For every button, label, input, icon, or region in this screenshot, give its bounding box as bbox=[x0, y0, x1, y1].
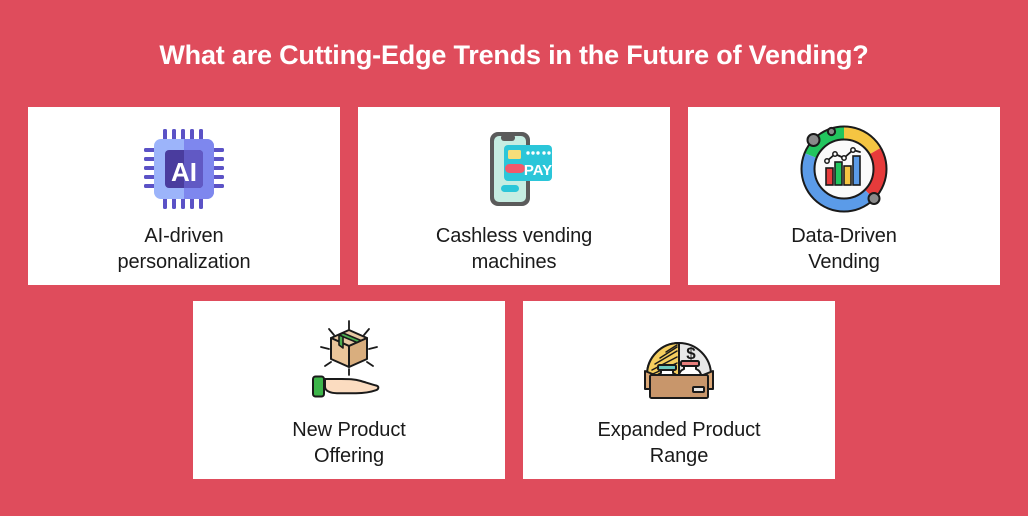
trend-card-label: AI-driven personalization bbox=[44, 223, 324, 275]
trend-card-label-line1: Cashless vending bbox=[436, 225, 592, 247]
trend-card-cashless-vending-machines[interactable]: PAY Cashless vending machines bbox=[358, 107, 670, 285]
trend-card-label-line2: machines bbox=[472, 251, 557, 273]
trend-card-label-line2: Vending bbox=[808, 251, 880, 273]
trend-card-label-line1: New Product bbox=[292, 419, 405, 441]
trend-card-expanded-product-range[interactable]: $ bbox=[523, 301, 835, 479]
donut-analytics-chart-icon bbox=[794, 119, 894, 219]
trend-card-ai-driven-personalization[interactable]: AI AI-driven personalization bbox=[28, 107, 340, 285]
trend-card-label-line1: Data-Driven bbox=[791, 225, 897, 247]
infographic-root: What are Cutting-Edge Trends in the Futu… bbox=[0, 0, 1028, 516]
hand-holding-box-icon bbox=[299, 313, 399, 413]
trend-card-new-product-offering[interactable]: New Product Offering bbox=[193, 301, 505, 479]
trend-card-label: Cashless vending machines bbox=[374, 223, 654, 275]
payment-card-icon-text: PAY bbox=[524, 162, 552, 179]
trend-card-data-driven-vending[interactable]: Data-Driven Vending bbox=[688, 107, 1000, 285]
trend-card-label-line1: AI-driven bbox=[144, 225, 223, 247]
box-of-products-icon: $ bbox=[629, 313, 729, 413]
ai-chip-icon: AI bbox=[134, 119, 234, 219]
trend-card-label-line1: Expanded Product bbox=[598, 419, 761, 441]
trend-card-label: Data-Driven Vending bbox=[704, 223, 984, 275]
trend-card-label: New Product Offering bbox=[209, 417, 489, 469]
ai-chip-icon-text: AI bbox=[171, 157, 197, 187]
page-title: What are Cutting-Edge Trends in the Futu… bbox=[0, 38, 1028, 72]
trend-card-label: Expanded Product Range bbox=[539, 417, 819, 469]
phone-payment-card-icon: PAY bbox=[464, 119, 564, 219]
trend-card-label-line2: Range bbox=[650, 445, 708, 467]
trend-card-label-line2: Offering bbox=[314, 445, 384, 467]
trend-card-label-line2: personalization bbox=[117, 251, 250, 273]
